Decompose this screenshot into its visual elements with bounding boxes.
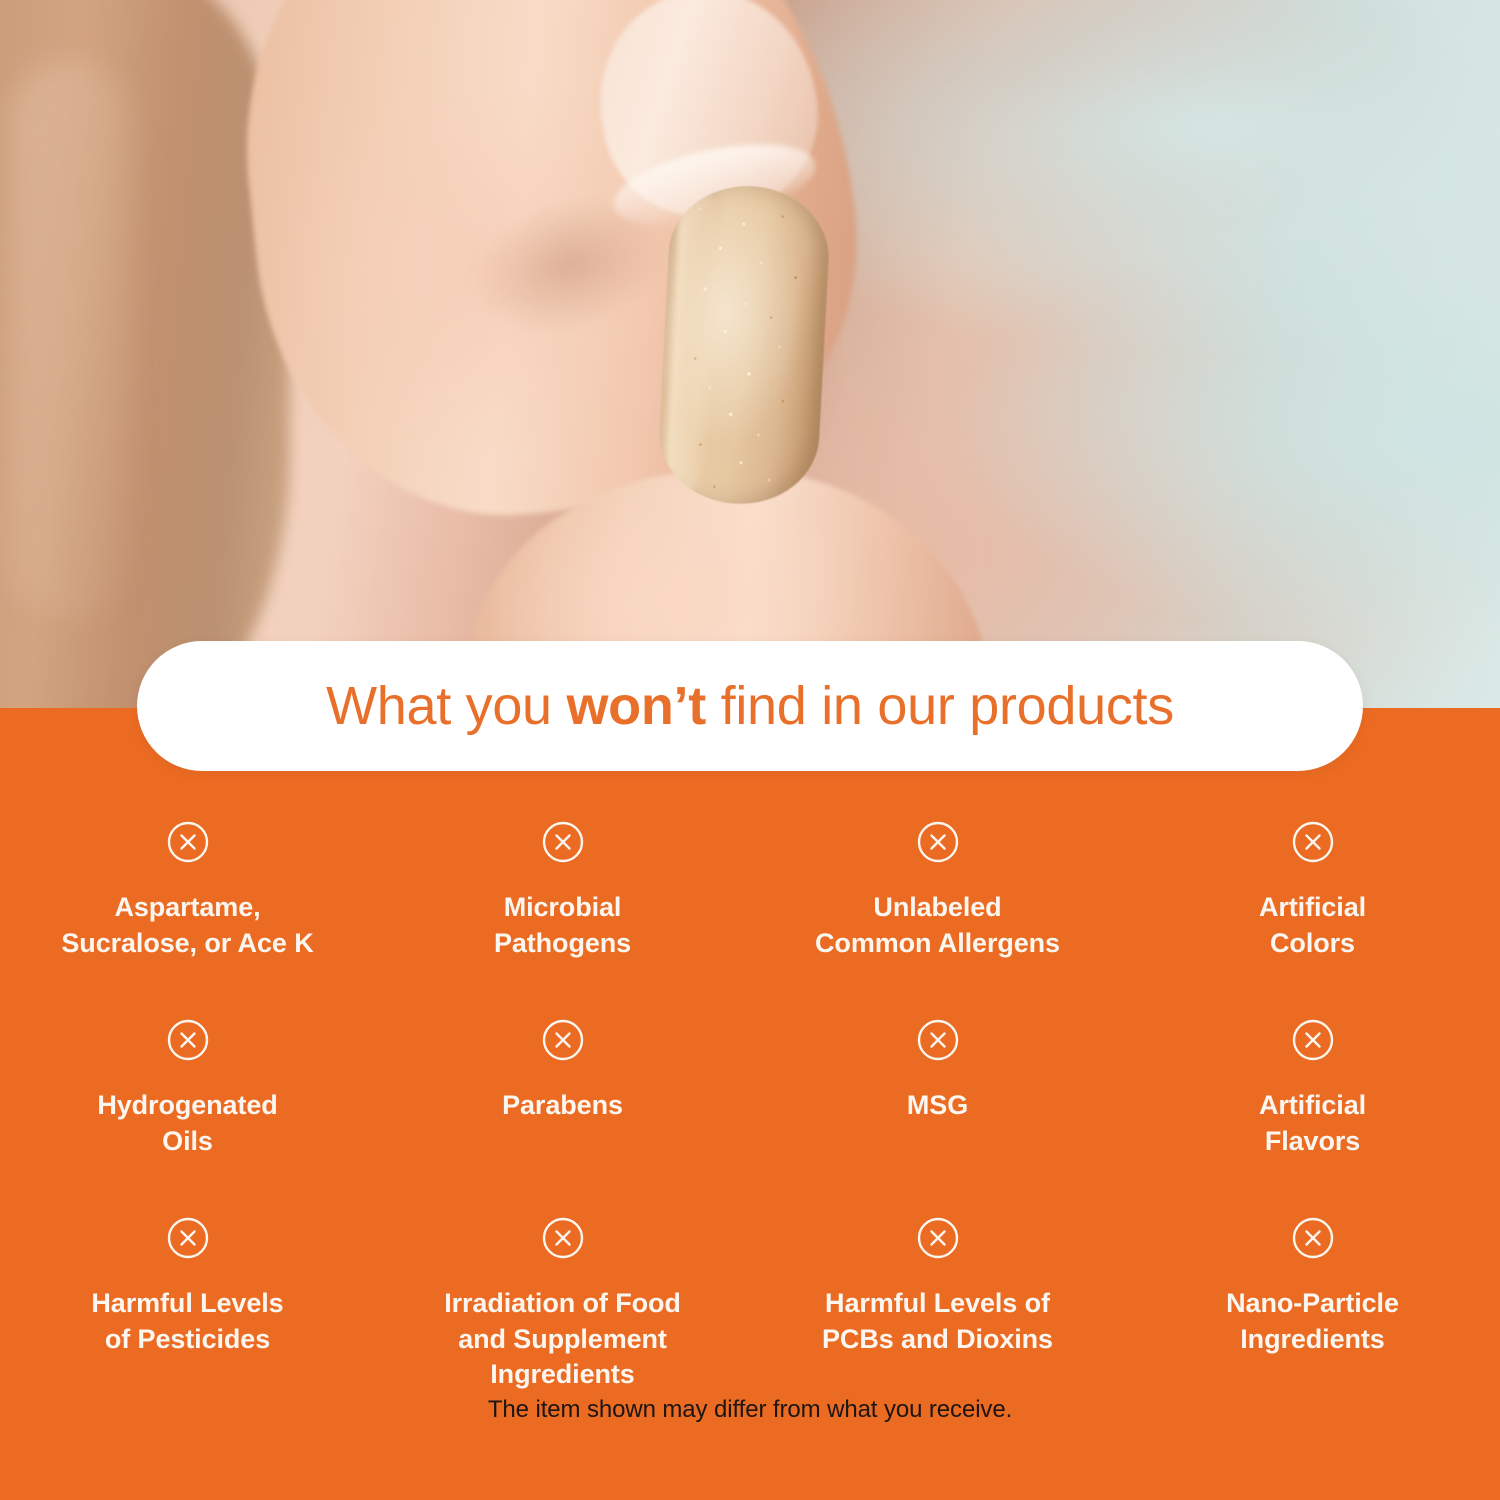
claim-label: Microbial Pathogens xyxy=(494,890,631,962)
circle-x-icon xyxy=(166,1216,210,1260)
headline-emphasis: won’t xyxy=(566,676,705,736)
claim-label: Nano-Particle Ingredients xyxy=(1226,1286,1399,1358)
circle-x-icon xyxy=(541,1018,585,1062)
circle-x-icon xyxy=(166,1018,210,1062)
claim-item: Aspartame, Sucralose, or Ace K xyxy=(0,820,375,962)
claim-item: Harmful Levels of PCBs and Dioxins xyxy=(750,1216,1125,1394)
circle-x-icon xyxy=(916,820,960,864)
claim-label: Artificial Colors xyxy=(1259,890,1366,962)
circle-x-icon xyxy=(541,820,585,864)
claim-item: Irradiation of Food and Supplement Ingre… xyxy=(375,1216,750,1394)
claim-item: Hydrogenated Oils xyxy=(0,1018,375,1160)
claim-label: Harmful Levels of PCBs and Dioxins xyxy=(822,1286,1053,1358)
claim-item: Artificial Colors xyxy=(1125,820,1500,962)
claim-item: Microbial Pathogens xyxy=(375,820,750,962)
circle-x-icon xyxy=(541,1216,585,1260)
headline-part-1: What you xyxy=(326,676,566,736)
circle-x-icon xyxy=(916,1216,960,1260)
claim-item: Unlabeled Common Allergens xyxy=(750,820,1125,962)
headline-part-2: find in our products xyxy=(706,676,1174,736)
supplement-tablet xyxy=(656,182,832,508)
circle-x-icon xyxy=(1291,1216,1335,1260)
claim-label: Irradiation of Food and Supplement Ingre… xyxy=(444,1286,681,1394)
page-title: What you won’t find in our products xyxy=(326,675,1174,737)
circle-x-icon xyxy=(1291,820,1335,864)
circle-x-icon xyxy=(916,1018,960,1062)
forearm-highlight xyxy=(10,60,130,620)
circle-x-icon xyxy=(1291,1018,1335,1062)
disclaimer-text: The item shown may differ from what you … xyxy=(0,1396,1500,1424)
claim-label: Parabens xyxy=(502,1088,623,1124)
claim-item: Harmful Levels of Pesticides xyxy=(0,1216,375,1394)
claim-label: MSG xyxy=(907,1088,968,1124)
claim-label: Unlabeled Common Allergens xyxy=(815,890,1060,962)
claim-item: MSG xyxy=(750,1018,1125,1160)
claim-label: Hydrogenated Oils xyxy=(97,1088,277,1160)
claim-label: Aspartame, Sucralose, or Ace K xyxy=(61,890,313,962)
claim-label: Artificial Flavors xyxy=(1259,1088,1366,1160)
claim-item: Nano-Particle Ingredients xyxy=(1125,1216,1500,1394)
claim-label: Harmful Levels of Pesticides xyxy=(91,1286,283,1358)
claims-grid: Aspartame, Sucralose, or Ace K Microbial… xyxy=(0,820,1500,1393)
claim-item: Artificial Flavors xyxy=(1125,1018,1500,1160)
headline-banner: What you won’t find in our products xyxy=(137,641,1363,771)
claims-panel: Aspartame, Sucralose, or Ace K Microbial… xyxy=(0,708,1500,1500)
circle-x-icon xyxy=(166,820,210,864)
product-claims-infographic: Aspartame, Sucralose, or Ace K Microbial… xyxy=(0,0,1500,1500)
claim-item: Parabens xyxy=(375,1018,750,1160)
product-photo xyxy=(0,0,1500,708)
